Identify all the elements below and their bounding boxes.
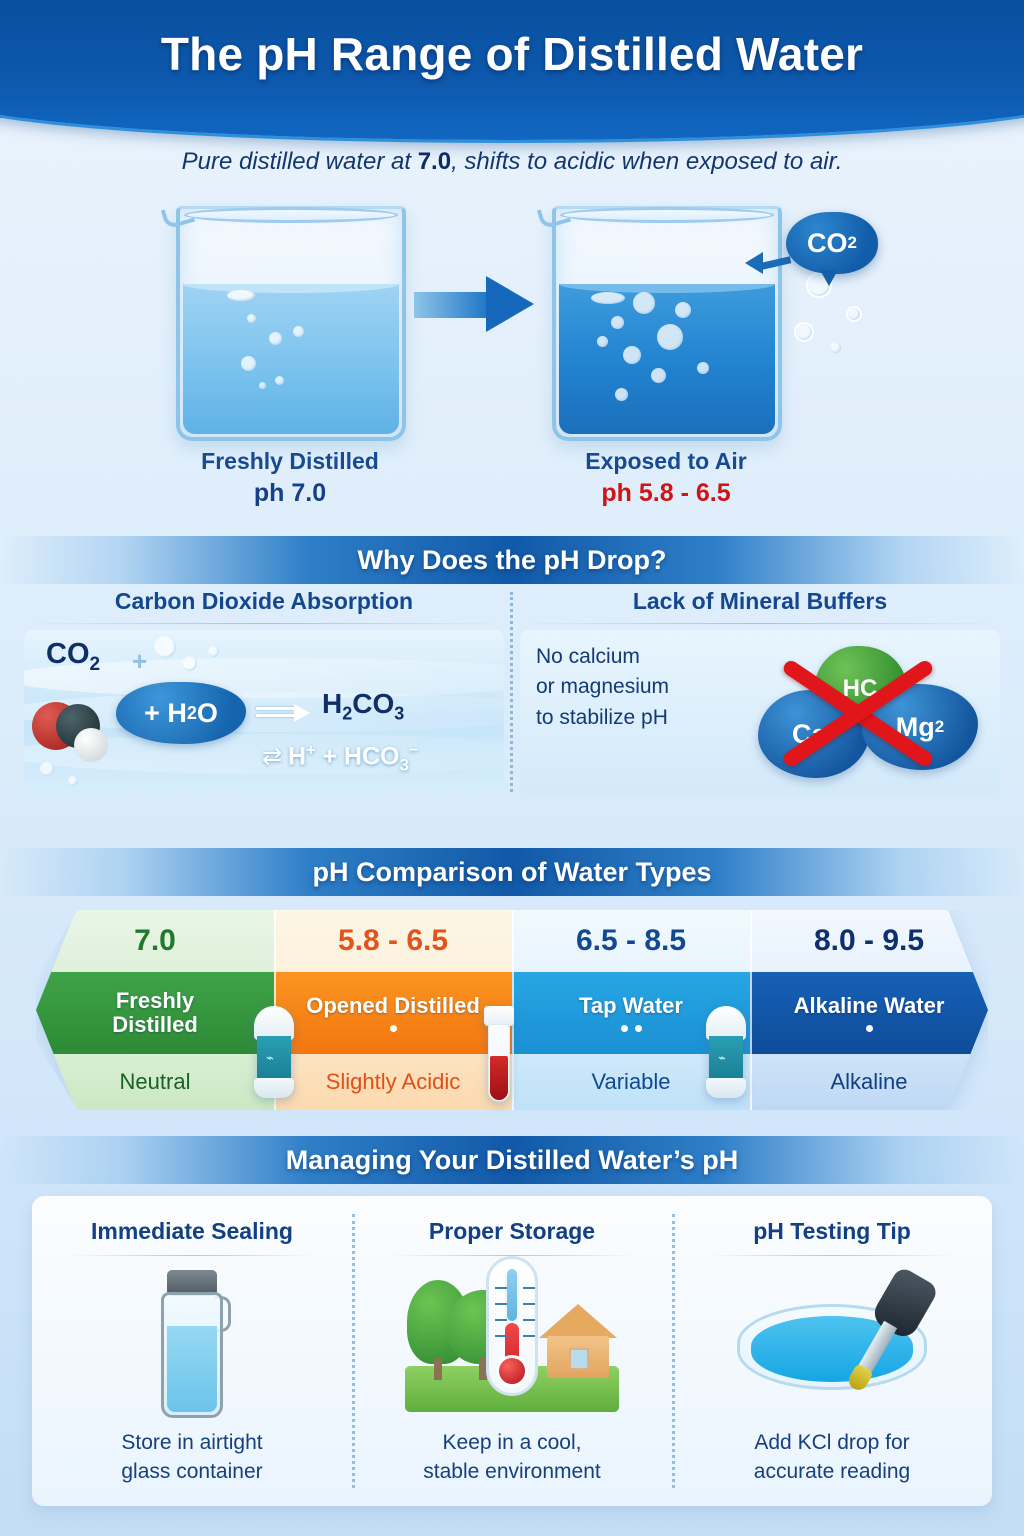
tip-rule bbox=[67, 1255, 317, 1256]
mineral-ions-group: HC Ca3 Mg2 bbox=[752, 644, 982, 784]
why-section-band: Why Does the pH Drop? bbox=[0, 536, 1024, 584]
subtitle-part2: , shifts to bbox=[451, 148, 554, 175]
subtitle-part3: when exposed to air. bbox=[615, 148, 842, 175]
exposed-caption-title: Exposed to Air bbox=[516, 448, 816, 475]
manage-tips-card: Immediate Sealing Store in airtight glas… bbox=[32, 1196, 992, 1506]
segment-value: 5.8 - 6.5 bbox=[274, 910, 512, 972]
subtitle: Pure distilled water at 7.0, shifts to a… bbox=[0, 148, 1024, 176]
mineral-text-line3: to stabilize pH bbox=[536, 703, 736, 733]
co2-sub: 2 bbox=[90, 654, 101, 675]
exposed-caption-ph: ph 5.8 - 6.5 bbox=[516, 479, 816, 508]
co2-molecule-model-icon bbox=[32, 700, 110, 762]
tip-text-line1: Keep in a cool, bbox=[352, 1429, 672, 1457]
ph-probe-icon-1: ⌁ bbox=[254, 1006, 294, 1098]
why-column-co2: Carbon Dioxide Absorption CO2 + + H2O bbox=[24, 588, 504, 624]
tip-text-line1: Add KCl drop for bbox=[672, 1429, 992, 1457]
segment-name-label: Opened Distilled bbox=[306, 994, 480, 1018]
heading-rule bbox=[24, 623, 504, 624]
dropper-dish-icon bbox=[672, 1262, 992, 1422]
tip-text-line2: glass container bbox=[32, 1458, 352, 1486]
tip-text-line2: accurate reading bbox=[672, 1458, 992, 1486]
ph-segment-freshly-distilled[interactable]: 7.0 FreshlyDistilled Neutral bbox=[36, 910, 274, 1110]
tip-text-line1: Store in airtight bbox=[32, 1429, 352, 1457]
transition-arrow-icon bbox=[414, 276, 534, 332]
tip-ph-testing[interactable]: pH Testing Tip Add KCl drop for accurate… bbox=[672, 1196, 992, 1506]
co2-callout-badge: CO2 bbox=[786, 212, 878, 274]
co2-subscript: 2 bbox=[848, 233, 857, 253]
segment-name: FreshlyDistilled bbox=[36, 972, 274, 1054]
ph-probe-icon-2: ⌁ bbox=[706, 1006, 746, 1098]
segment-dots bbox=[866, 1025, 873, 1032]
equilibrium-symbol-icon: ⇄ bbox=[262, 742, 282, 771]
equation-water-blob: + H2O bbox=[116, 682, 246, 744]
thermometer-icon bbox=[486, 1256, 538, 1396]
tip-rule bbox=[707, 1255, 957, 1256]
why-column-minerals: Lack of Mineral Buffers No calcium or ma… bbox=[520, 588, 1000, 624]
ph-segment-alkaline-water[interactable]: 8.0 - 9.5 Alkaline Water Alkaline bbox=[750, 910, 988, 1110]
subtitle-value: 7.0 bbox=[418, 148, 451, 175]
reaction-arrow-icon bbox=[256, 702, 314, 722]
equation-co2: CO2 bbox=[46, 638, 100, 676]
fresh-caption-ph: ph 7.0 bbox=[140, 479, 440, 508]
tip-text: Keep in a cool, stable environment bbox=[352, 1429, 672, 1486]
co2-equation-graphic: CO2 + + H2O H2CO3 ⇄ H+ + HCO3− bbox=[24, 630, 504, 795]
ph-comparison-section: 7.0 FreshlyDistilled Neutral 5.8 - 6.5 O… bbox=[0, 902, 1024, 1122]
equation-plus: + bbox=[132, 646, 147, 677]
test-tube-icon bbox=[484, 1006, 514, 1102]
comparison-section-band: pH Comparison of Water Types bbox=[0, 848, 1024, 896]
segment-value: 8.0 - 9.5 bbox=[750, 910, 988, 972]
page-title: The pH Range of Distilled Water bbox=[0, 0, 1024, 108]
fresh-beaker-caption: Freshly Distilled ph 7.0 bbox=[140, 448, 440, 508]
exposed-beaker-graphic bbox=[552, 206, 782, 441]
segment-name-label: Alkaline Water bbox=[794, 994, 945, 1018]
tip-proper-storage[interactable]: Proper Storage Ke bbox=[352, 1196, 672, 1506]
manage-section-band: Managing Your Distilled Water’s pH bbox=[0, 1136, 1024, 1184]
subtitle-part1: Pure distilled water at bbox=[182, 148, 418, 175]
mineral-text-line1: No calcium bbox=[536, 642, 736, 672]
mineral-buffers-graphic: No calcium or magnesium to stabilize pH … bbox=[520, 630, 1000, 795]
tip-text-line2: stable environment bbox=[352, 1458, 672, 1486]
environment-thermometer-icon bbox=[352, 1262, 672, 1422]
segment-name-label: Tap Water bbox=[579, 994, 683, 1018]
equation-product: H2CO3 bbox=[322, 688, 404, 725]
h2o-sub: 2 bbox=[187, 703, 197, 724]
subtitle-emphasis: acidic bbox=[554, 148, 615, 175]
dissoc-minus: − bbox=[409, 742, 418, 759]
co2-pointer-arrow-icon bbox=[745, 252, 791, 274]
beaker-comparison-row: CO2 Freshly Distilled ph 7.0 Exposed to … bbox=[0, 196, 1024, 526]
product-sub1: 2 bbox=[342, 704, 352, 724]
fresh-beaker-graphic bbox=[176, 206, 406, 441]
manage-section-title: Managing Your Distilled Water’s pH bbox=[286, 1145, 739, 1176]
co2-label: CO bbox=[807, 228, 848, 259]
mineral-buffers-text: No calcium or magnesium to stabilize pH bbox=[536, 642, 736, 733]
h2o-end: O bbox=[197, 698, 218, 729]
segment-desc: Alkaline bbox=[750, 1054, 988, 1110]
product-sub2: 3 bbox=[394, 704, 404, 724]
product-h: H bbox=[322, 688, 342, 719]
ph-segment-opened-distilled[interactable]: 5.8 - 6.5 Opened Distilled Slightly Acid… bbox=[274, 910, 512, 1110]
water-fill-fresh bbox=[183, 284, 399, 434]
why-column-divider bbox=[510, 592, 513, 792]
segment-value: 6.5 - 8.5 bbox=[512, 910, 750, 972]
heading-rule bbox=[520, 623, 1000, 624]
water-fill-exposed bbox=[559, 284, 775, 434]
product-co: CO bbox=[352, 688, 394, 719]
tip-immediate-sealing[interactable]: Immediate Sealing Store in airtight glas… bbox=[32, 1196, 352, 1506]
why-section-title: Why Does the pH Drop? bbox=[358, 545, 667, 576]
co2-text: CO bbox=[46, 638, 90, 670]
segment-name: Alkaline Water bbox=[750, 972, 988, 1054]
why-section-content: Carbon Dioxide Absorption CO2 + + H2O bbox=[0, 588, 1024, 828]
tip-text: Store in airtight glass container bbox=[32, 1429, 352, 1486]
red-cross-out-icon bbox=[752, 644, 982, 784]
segment-value: 7.0 bbox=[36, 910, 274, 972]
segment-desc: Slightly Acidic bbox=[274, 1054, 512, 1110]
mineral-text-line2: or magnesium bbox=[536, 672, 736, 702]
beaker-rim bbox=[184, 207, 398, 223]
dissoc-hco: + HCO bbox=[315, 742, 399, 770]
h2o-text: + H bbox=[144, 698, 187, 729]
bottle-icon bbox=[32, 1262, 352, 1422]
segment-dots bbox=[621, 1025, 642, 1032]
segment-dots bbox=[390, 1025, 397, 1032]
segment-desc: Neutral bbox=[36, 1054, 274, 1110]
comparison-section-title: pH Comparison of Water Types bbox=[312, 857, 711, 888]
equation-dissociation: H+ + HCO3− bbox=[288, 742, 418, 775]
dissoc-h: H bbox=[288, 742, 306, 770]
tip-text: Add KCl drop for accurate reading bbox=[672, 1429, 992, 1486]
exposed-beaker-caption: Exposed to Air ph 5.8 - 6.5 bbox=[516, 448, 816, 508]
tip-heading: pH Testing Tip bbox=[753, 1218, 911, 1245]
fresh-caption-title: Freshly Distilled bbox=[140, 448, 440, 475]
house-icon bbox=[539, 1304, 617, 1378]
tip-heading: Proper Storage bbox=[429, 1218, 595, 1245]
dissoc-sup: + bbox=[306, 742, 315, 759]
tip-heading: Immediate Sealing bbox=[91, 1218, 293, 1245]
co2-absorption-heading: Carbon Dioxide Absorption bbox=[24, 588, 504, 623]
beaker-rim bbox=[560, 207, 774, 223]
segment-name: Opened Distilled bbox=[274, 972, 512, 1054]
mineral-buffers-heading: Lack of Mineral Buffers bbox=[520, 588, 1000, 623]
dissoc-sub: 3 bbox=[399, 755, 408, 774]
